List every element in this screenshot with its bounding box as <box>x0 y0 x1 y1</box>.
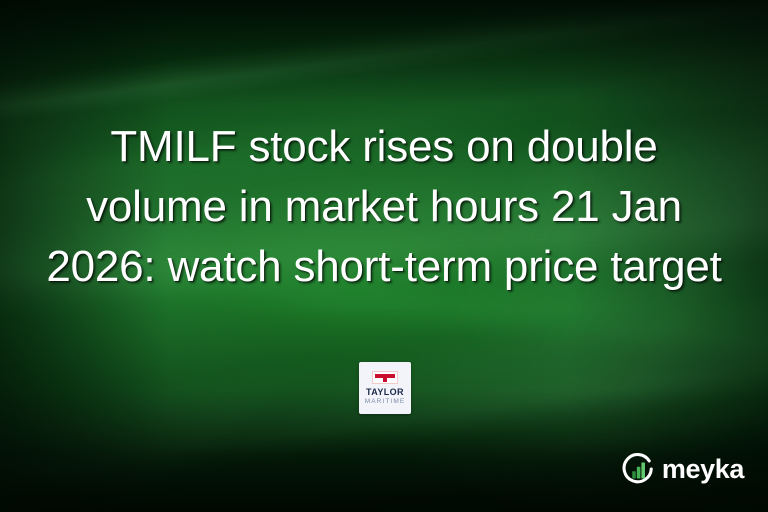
meyka-circle-bars-icon <box>621 452 655 486</box>
headline-text: TMILF stock rises on double volume in ma… <box>0 117 768 297</box>
brand-name-label: meyka <box>662 456 744 483</box>
brand-watermark: meyka <box>621 452 744 486</box>
company-logo-name: TAYLOR <box>366 387 404 397</box>
company-logo: TAYLOR MARITIME <box>359 362 411 414</box>
taylor-maritime-t-mark-icon <box>372 371 398 384</box>
social-share-card: TMILF stock rises on double volume in ma… <box>0 0 768 512</box>
company-logo-subname: MARITIME <box>365 398 406 406</box>
